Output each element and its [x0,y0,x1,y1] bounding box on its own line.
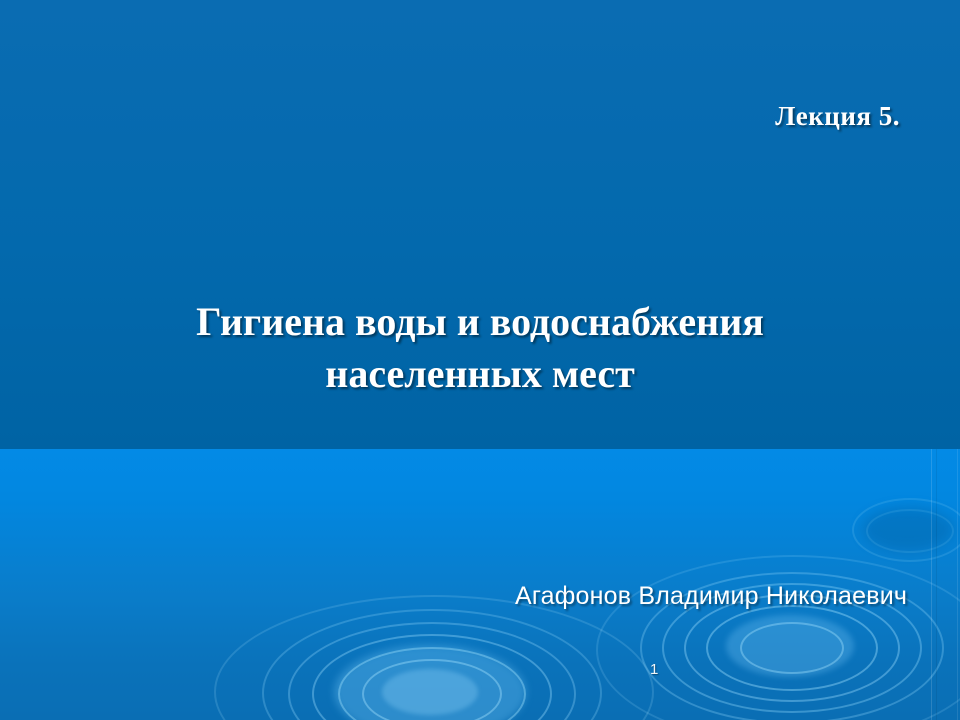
slide-number: 1 [650,661,658,678]
water-ripple-left-ring-2 [362,659,502,720]
water-ripple-right-small-glow [862,507,954,551]
lecture-label: Лекция 5. [775,101,900,132]
right-vertical-hairline-light [931,449,932,720]
presentation-slide: Лекция 5. Гигиена воды и водоснабжения н… [0,0,960,720]
water-ripple-outer-arc-1 [214,595,654,720]
right-edge-hairline [957,449,958,720]
right-vertical-hairline-dark [936,449,937,720]
water-ripple-left-ring-3 [338,647,526,720]
water-ripple-left-ring-5 [288,622,576,720]
page-title: Гигиена воды и водоснабжения населенных … [80,296,880,400]
water-ripple-left-core-glow [334,645,526,720]
water-ripple-right-core [726,615,854,677]
water-ripple-left-core [382,669,478,715]
water-ripple-left-ring-4 [312,634,552,720]
water-ripple-left-ring-6 [262,609,602,720]
water-ripple-right-ring-2 [706,605,878,691]
water-ripple-right-small-ring-1 [852,498,960,562]
water-ripple-right-small-ring-2 [866,509,954,553]
title-line-1: Гигиена воды и водоснабжения [80,296,880,348]
water-ripple-outer-arc-2 [596,555,960,720]
author-name: Агафонов Владимир Николаевич [515,582,907,611]
water-ripple-right-ring-1 [740,622,844,674]
title-line-2: населенных мест [80,348,880,400]
